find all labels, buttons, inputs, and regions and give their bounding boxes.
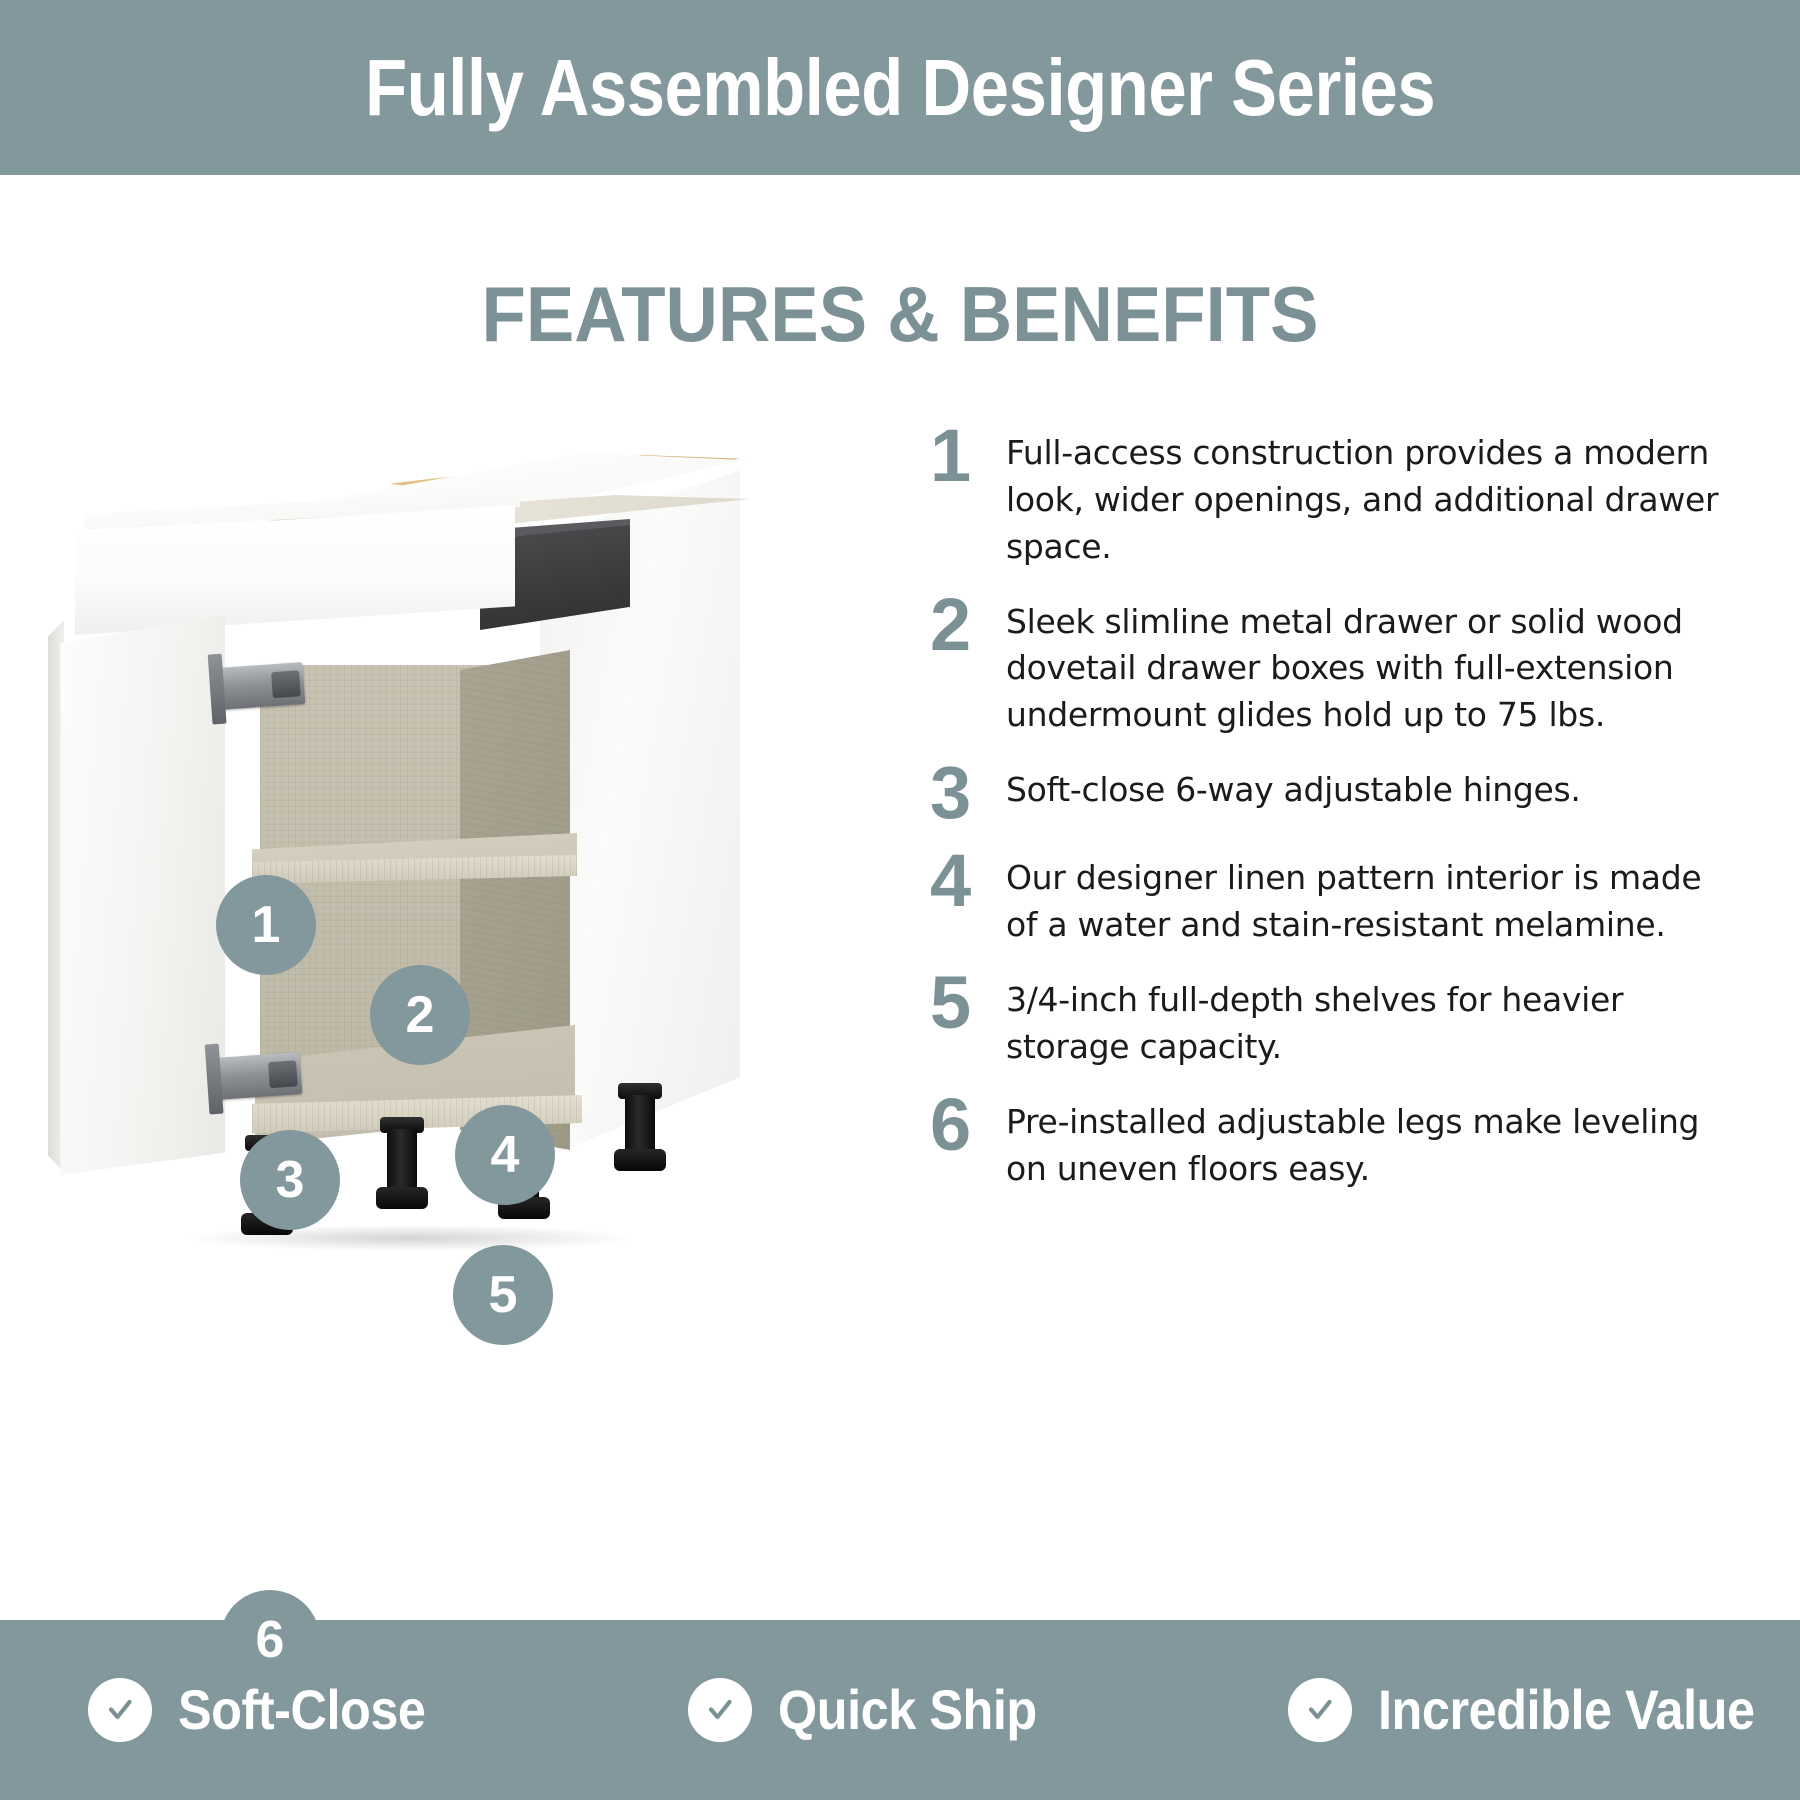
callout-badge-5: 5 <box>453 1245 553 1345</box>
check-circle-icon <box>88 1678 152 1742</box>
callout-badge-1: 1 <box>216 875 316 975</box>
product-image: 1 2 3 4 5 6 <box>40 435 800 1335</box>
footer-benefit-label: Soft-Close <box>178 1682 426 1738</box>
feature-number: 2 <box>930 591 1006 659</box>
footer-benefit-label: Quick Ship <box>778 1682 1037 1738</box>
footer-benefit-soft-close: Soft-Close <box>0 1678 600 1742</box>
feature-item-3: 3 Soft-close 6-way adjustable hinges. <box>930 767 1720 827</box>
callout-badge-2: 2 <box>370 965 470 1065</box>
leg-foot <box>376 1187 428 1209</box>
cabinet-door <box>50 615 225 1175</box>
section-heading: FEATURES & BENEFITS <box>63 275 1737 353</box>
infographic-page: Fully Assembled Designer Series FEATURES… <box>0 0 1800 1800</box>
hinge-cup <box>271 670 301 698</box>
hinge-top-icon <box>217 662 306 710</box>
callout-badge-label: 1 <box>252 899 281 951</box>
feature-number: 6 <box>930 1091 1006 1159</box>
feature-description: Sleek slimline metal drawer or solid woo… <box>1006 599 1720 740</box>
cabinet-illustration <box>40 435 800 1335</box>
callout-badge-label: 4 <box>491 1129 520 1181</box>
page-title: Fully Assembled Designer Series <box>365 48 1435 128</box>
feature-item-5: 5 3/4-inch full-depth shelves for heavie… <box>930 977 1720 1071</box>
feature-description: 3/4-inch full-depth shelves for heavier … <box>1006 977 1720 1071</box>
callout-badge-label: 2 <box>406 989 435 1041</box>
feature-item-2: 2 Sleek slimline metal drawer or solid w… <box>930 599 1720 740</box>
feature-description: Pre-installed adjustable legs make level… <box>1006 1099 1720 1193</box>
feature-description: Soft-close 6-way adjustable hinges. <box>1006 767 1720 814</box>
main-content: FEATURES & BENEFITS <box>0 175 1800 1620</box>
feature-item-6: 6 Pre-installed adjustable legs make lev… <box>930 1099 1720 1193</box>
callout-badge-4: 4 <box>455 1105 555 1205</box>
feature-number: 1 <box>930 422 1006 490</box>
callout-badge-label: 5 <box>489 1269 518 1321</box>
feature-item-4: 4 Our designer linen pattern interior is… <box>930 855 1720 949</box>
callout-badge-3: 3 <box>240 1130 340 1230</box>
feature-description: Our designer linen pattern interior is m… <box>1006 855 1720 949</box>
feature-number: 3 <box>930 759 1006 827</box>
hinge-bottom-icon <box>214 1052 303 1100</box>
hinge-cup <box>268 1060 298 1088</box>
callout-badge-label: 6 <box>256 1614 285 1666</box>
feature-description: Full-access construction provides a mode… <box>1006 430 1720 571</box>
features-list: 1 Full-access construction provides a mo… <box>930 430 1720 1220</box>
footer-benefit-incredible-value: Incredible Value <box>1200 1678 1800 1742</box>
feature-item-1: 1 Full-access construction provides a mo… <box>930 430 1720 571</box>
floor-shadow <box>190 1225 630 1251</box>
feature-number: 4 <box>930 847 1006 915</box>
callout-badge-label: 3 <box>276 1154 305 1206</box>
footer-benefit-quick-ship: Quick Ship <box>600 1678 1200 1742</box>
check-circle-icon <box>688 1678 752 1742</box>
callout-badge-6: 6 <box>220 1590 320 1690</box>
header-bar: Fully Assembled Designer Series <box>0 0 1800 175</box>
footer-benefit-label: Incredible Value <box>1378 1682 1755 1738</box>
feature-number: 5 <box>930 969 1006 1037</box>
check-circle-icon <box>1288 1678 1352 1742</box>
leg-foot <box>614 1149 666 1171</box>
